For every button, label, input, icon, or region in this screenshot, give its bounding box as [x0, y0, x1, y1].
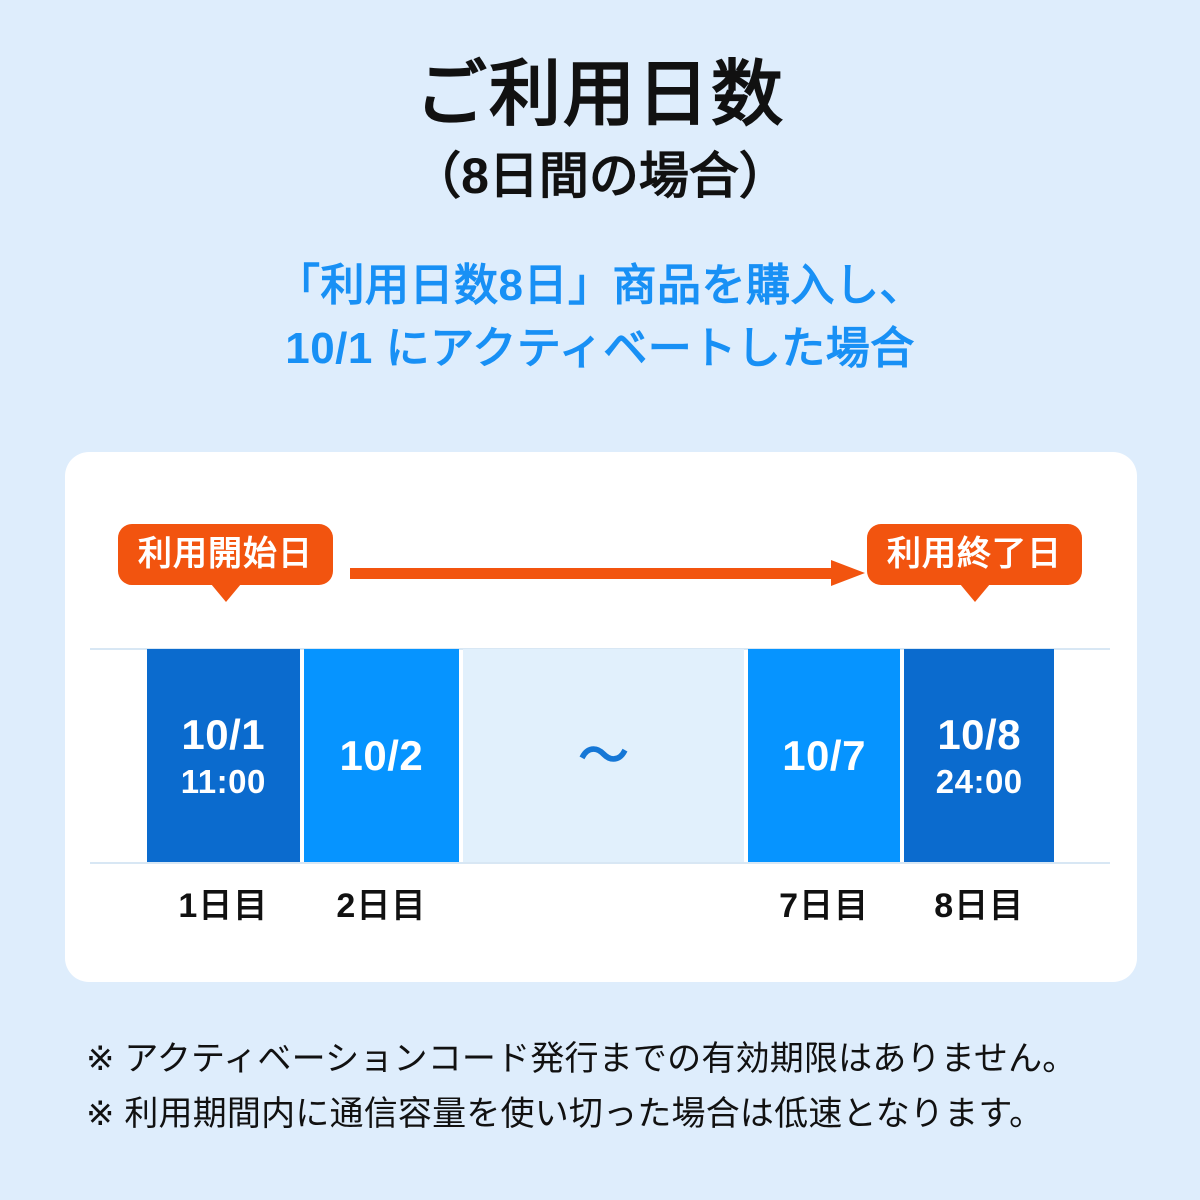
- day-label-7: 7日目: [748, 872, 901, 932]
- day-label-2: 2日目: [304, 872, 460, 932]
- timeline-card: 利用開始日 利用終了日 10/1 11:00 10/2 〜 10/7 10/8 …: [65, 452, 1137, 982]
- timeline-cell-day2: 10/2: [304, 649, 460, 863]
- timeline-cell-day7: 10/7: [748, 649, 901, 863]
- day-label-1: 1日目: [147, 872, 300, 932]
- day-label-8: 8日目: [904, 872, 1054, 932]
- timeline-cell-date: 10/7: [782, 732, 866, 779]
- timeline-bars: 10/1 11:00 10/2 〜 10/7 10/8 24:00: [147, 649, 1054, 863]
- badge-start-date: 利用開始日: [118, 524, 333, 585]
- lead-line-2: 10/1 にアクティベートした場合: [0, 317, 1200, 381]
- footnotes: ※ アクティベーションコード発行までの有効期限はありません。 ※ 利用期間内に通…: [86, 1032, 1116, 1142]
- timeline-cell-day8: 10/8 24:00: [904, 649, 1054, 863]
- lead-block: 「利用日数8日」商品を購入し、 10/1 にアクティベートした場合: [0, 254, 1200, 382]
- timeline-cell-date: 10/8: [937, 711, 1021, 758]
- timeline-cell-gap: 〜: [463, 649, 744, 863]
- timeline-cell-day1: 10/1 11:00: [147, 649, 300, 863]
- right-arrow-icon: [350, 560, 865, 586]
- badge-end-date: 利用終了日: [867, 524, 1082, 585]
- timeline-rule-bottom: [90, 862, 1110, 864]
- day-label-row: 1日目 2日目 7日目 8日目: [147, 872, 1054, 932]
- heading-block: ご利用日数 （8日間の場合）: [0, 0, 1200, 206]
- timeline-cell-time: 11:00: [181, 762, 266, 802]
- page-title: ご利用日数: [0, 58, 1200, 134]
- day-label-gap: [463, 872, 744, 932]
- timeline-cell-time: 24:00: [936, 762, 1023, 802]
- footnote-2: ※ 利用期間内に通信容量を使い切った場合は低速となります。: [86, 1087, 1116, 1142]
- lead-line-1: 「利用日数8日」商品を購入し、: [0, 254, 1200, 318]
- ellipsis-symbol: 〜: [578, 731, 628, 781]
- timeline-cell-date: 10/1: [181, 711, 265, 758]
- page-subtitle: （8日間の場合）: [0, 146, 1200, 206]
- badge-row: 利用開始日 利用終了日: [65, 452, 1137, 648]
- timeline-cell-date: 10/2: [340, 732, 424, 779]
- arrow-head: [831, 560, 865, 586]
- footnote-1: ※ アクティベーションコード発行までの有効期限はありません。: [86, 1032, 1116, 1087]
- arrow-shaft: [350, 568, 832, 579]
